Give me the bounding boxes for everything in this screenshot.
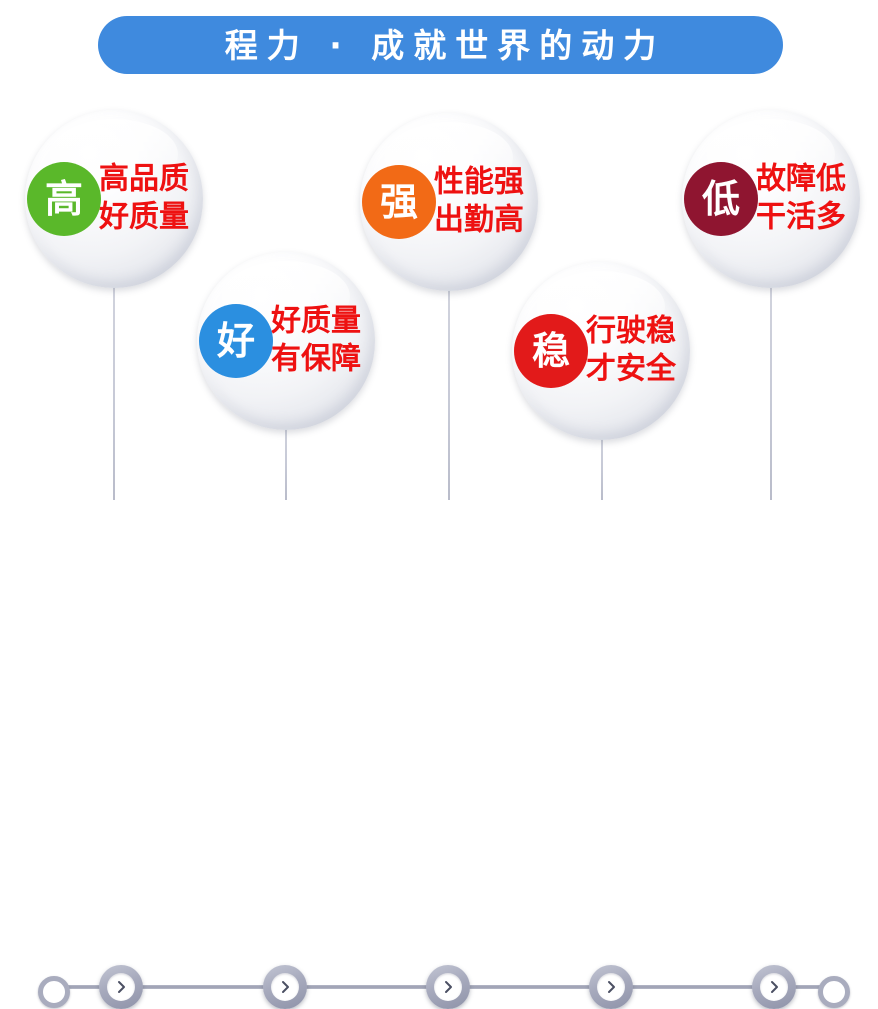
feature-line-5b: 干活多 — [756, 199, 846, 237]
header-title: 程力 · 成就世界的动力 — [216, 29, 666, 62]
chevron-right-icon — [605, 980, 617, 994]
connector-stem-0 — [113, 272, 115, 500]
feature-line-2a: 好质量 — [271, 303, 361, 341]
feature-text-5: 故障低 干活多 — [756, 161, 846, 238]
feature-bubble-1[interactable]: 高 高品质 好质量 — [25, 110, 203, 288]
connector-stem-4 — [770, 272, 772, 500]
feature-line-3b: 出勤高 — [434, 202, 524, 240]
timeline-node-inner — [760, 973, 788, 1001]
feature-text-3: 性能强 出勤高 — [434, 164, 524, 241]
chevron-right-icon — [768, 980, 780, 994]
ring-icon-left — [38, 976, 70, 1008]
feature-badge-5: 低 — [684, 162, 758, 236]
feature-line-1a: 高品质 — [99, 161, 189, 199]
chevron-right-icon — [442, 980, 454, 994]
timeline-node-1[interactable] — [99, 965, 143, 1009]
connector-stem-2 — [448, 275, 450, 500]
feature-bubble-3[interactable]: 强 性能强 出勤高 — [360, 113, 538, 291]
chevron-right-icon — [279, 980, 291, 994]
timeline-node-5[interactable] — [752, 965, 796, 1009]
feature-badge-2: 好 — [199, 304, 273, 378]
feature-line-5a: 故障低 — [756, 161, 846, 199]
feature-line-2b: 有保障 — [271, 341, 361, 379]
feature-text-4: 行驶稳 才安全 — [586, 313, 676, 390]
feature-text-2: 好质量 有保障 — [271, 303, 361, 380]
feature-bubble-5[interactable]: 低 故障低 干活多 — [682, 110, 860, 288]
infographic-canvas: 程力 · 成就世界的动力 高 高品质 好质量 好 好质量 有保障 强 性能强 出… — [0, 0, 878, 561]
feature-badge-1: 高 — [27, 162, 101, 236]
timeline-node-4[interactable] — [589, 965, 633, 1009]
feature-line-4a: 行驶稳 — [586, 313, 676, 351]
feature-text-1: 高品质 好质量 — [99, 161, 189, 238]
feature-badge-4: 稳 — [514, 314, 588, 388]
feature-line-4b: 才安全 — [586, 351, 676, 389]
timeline-node-inner — [107, 973, 135, 1001]
feature-bubble-2[interactable]: 好 好质量 有保障 — [197, 252, 375, 430]
header-banner: 程力 · 成就世界的动力 — [98, 16, 783, 74]
feature-badge-3: 强 — [362, 165, 436, 239]
timeline-node-3[interactable] — [426, 965, 470, 1009]
chevron-right-icon — [115, 980, 127, 994]
feature-bubble-4[interactable]: 稳 行驶稳 才安全 — [512, 262, 690, 440]
timeline — [0, 470, 878, 565]
feature-line-1b: 好质量 — [99, 199, 189, 237]
timeline-node-inner — [597, 973, 625, 1001]
ring-icon-right — [818, 976, 850, 1008]
timeline-node-2[interactable] — [263, 965, 307, 1009]
timeline-node-inner — [434, 973, 462, 1001]
feature-line-3a: 性能强 — [434, 164, 524, 202]
timeline-node-inner — [271, 973, 299, 1001]
